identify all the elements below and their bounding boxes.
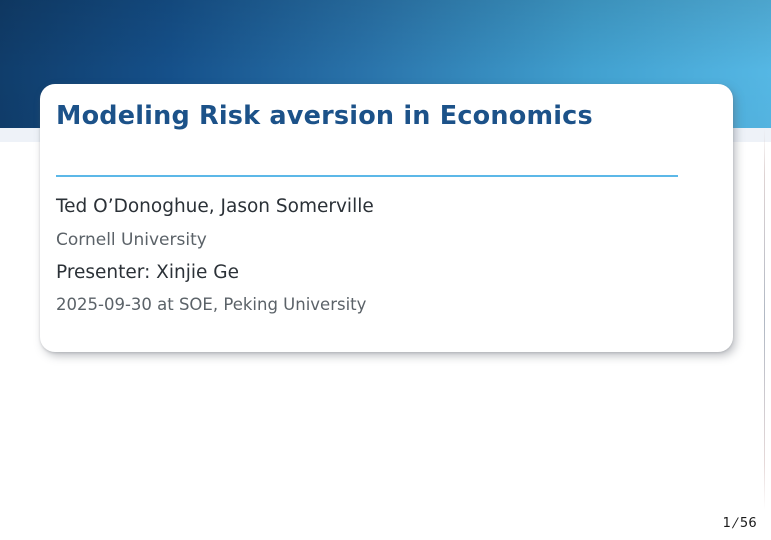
page-number-total: 56 bbox=[740, 516, 757, 531]
page-number-separator: / bbox=[731, 516, 739, 531]
title-card-content: Modeling Risk aversion in Economics Ted … bbox=[56, 84, 719, 352]
title-metadata: Ted O’Donoghue, Jason Somerville Cornell… bbox=[56, 198, 696, 314]
institute-name: Cornell University bbox=[56, 232, 696, 249]
title-card: Modeling Risk aversion in Economics Ted … bbox=[40, 84, 733, 352]
right-margin-rule bbox=[764, 128, 765, 510]
presenter-name: Presenter: Xinjie Ge bbox=[56, 264, 696, 283]
presentation-slide: Modeling Risk aversion in Economics Ted … bbox=[0, 0, 771, 540]
page-title: Modeling Risk aversion in Economics bbox=[56, 101, 593, 131]
page-number: 1/56 bbox=[723, 516, 757, 531]
page-number-current: 1 bbox=[723, 516, 732, 531]
date-and-venue: 2025-09-30 at SOE, Peking University bbox=[56, 297, 696, 314]
author-names: Ted O’Donoghue, Jason Somerville bbox=[56, 198, 696, 217]
title-divider bbox=[56, 175, 678, 177]
